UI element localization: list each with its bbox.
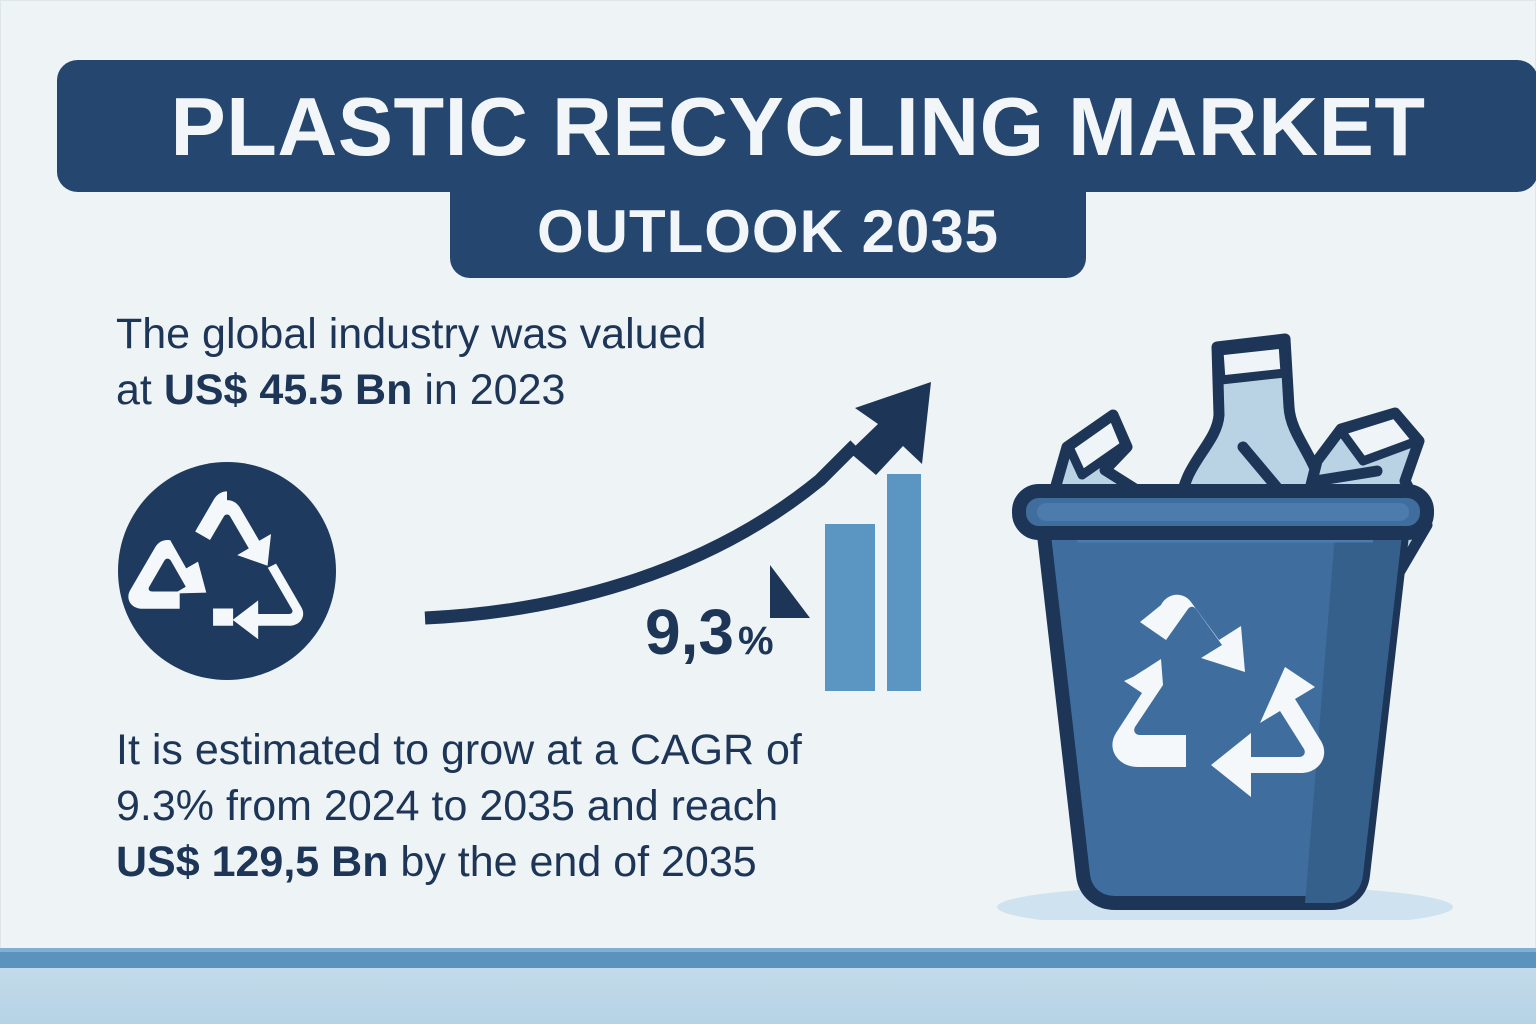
chart-bar-2 <box>887 474 921 691</box>
cagr-value: 9,3 <box>645 596 734 668</box>
footer-stripe <box>0 952 1536 968</box>
recycling-bin-icon <box>985 295 1460 920</box>
chart-bar-1 <box>825 524 875 691</box>
infographic-canvas: PLASTIC RECYCLING MARKET OUTLOOK 2035 Th… <box>0 0 1536 1024</box>
top-paragraph-prefix: at <box>116 366 164 414</box>
footer-band <box>0 968 1536 1024</box>
title-banner-secondary: OUTLOOK 2035 <box>450 186 1086 278</box>
title-line-1: PLASTIC RECYCLING MARKET <box>170 85 1425 168</box>
top-paragraph-lead: The global industry was valued <box>116 310 706 358</box>
cursor-pointer-icon <box>770 565 810 618</box>
title-line-2: OUTLOOK 2035 <box>537 202 999 262</box>
cagr-unit: % <box>738 619 774 663</box>
title-banner-primary: PLASTIC RECYCLING MARKET <box>57 60 1536 192</box>
bin-rim-highlight <box>1037 503 1409 521</box>
bottom-paragraph-line2: 9.3% from 2024 to 2035 and reach <box>116 782 778 830</box>
cagr-callout: 9,3% <box>645 600 774 664</box>
bottom-paragraph-line1: It is estimated to grow at a CAGR of <box>116 726 802 774</box>
recycle-icon <box>118 462 336 680</box>
bottom-paragraph: It is estimated to grow at a CAGR of 9.3… <box>116 722 976 890</box>
market-value-2023: US$ 45.5 Bn <box>164 366 413 414</box>
bottom-paragraph-line3-suffix: by the end of 2035 <box>388 838 756 886</box>
market-value-2035: US$ 129,5 Bn <box>116 838 388 886</box>
